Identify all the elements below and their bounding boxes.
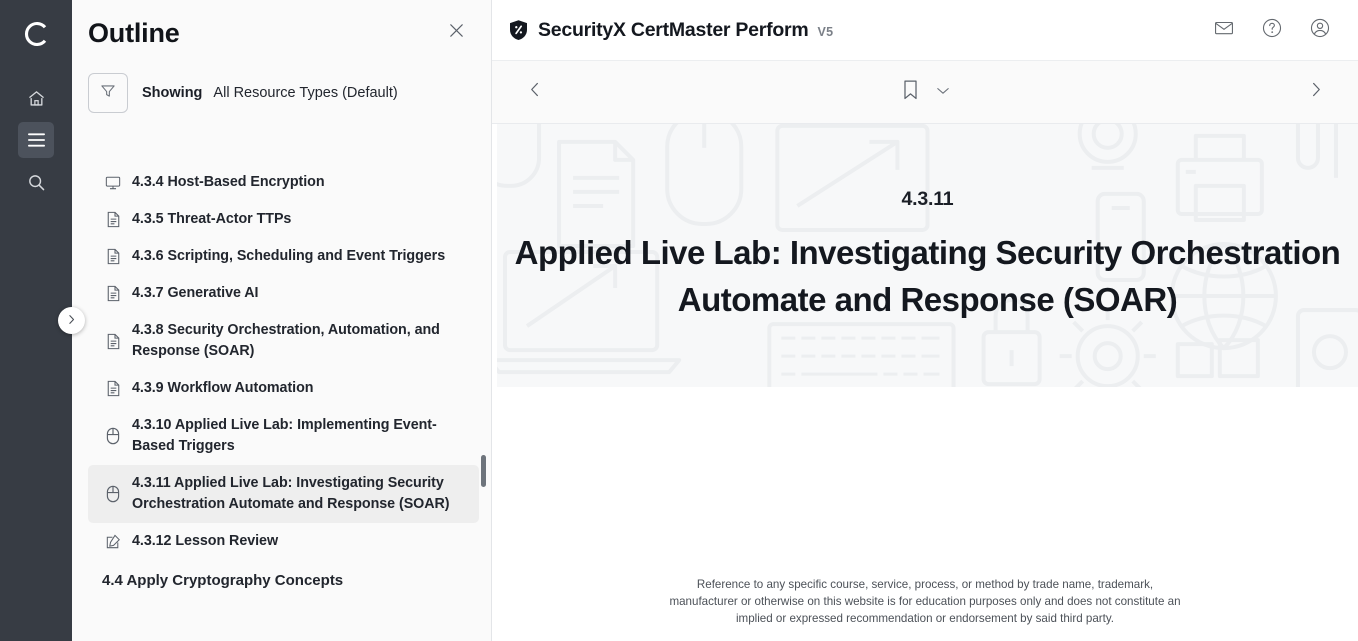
outline-item[interactable]: 4.3.10 Applied Live Lab: Implementing Ev… xyxy=(88,407,479,465)
outline-item-label: 4.3.8 Security Orchestration, Automation… xyxy=(132,320,453,362)
document-icon xyxy=(102,380,124,397)
mouse-icon xyxy=(102,427,124,445)
document-icon xyxy=(102,285,124,302)
document-icon xyxy=(102,248,124,265)
close-outline-button[interactable] xyxy=(443,20,469,46)
outline-panel: Outline Showing All Resource Types (Defa… xyxy=(72,0,492,641)
outline-item-label: 4.3.10 Applied Live Lab: Implementing Ev… xyxy=(132,415,453,457)
shield-check-icon xyxy=(508,19,529,41)
outline-item[interactable]: 4.3.12 Lesson Review xyxy=(88,523,479,560)
messages-button[interactable] xyxy=(1212,18,1236,42)
app-header: SecurityX CertMaster Perform V5 xyxy=(492,0,1358,60)
account-button[interactable] xyxy=(1308,18,1332,42)
next-page-button[interactable] xyxy=(1300,77,1330,107)
chevron-right-icon xyxy=(66,312,77,330)
home-icon xyxy=(27,89,46,108)
monitor-icon xyxy=(102,175,124,191)
outline-item[interactable]: 4.3.5 Threat-Actor TTPs xyxy=(88,201,479,238)
outline-item[interactable]: 4.3.6 Scripting, Scheduling and Event Tr… xyxy=(88,238,479,275)
brand: SecurityX CertMaster Perform V5 xyxy=(508,19,833,42)
mail-icon xyxy=(1213,17,1235,44)
bookmark-button[interactable] xyxy=(901,79,920,106)
chevron-down-icon xyxy=(936,83,950,101)
outline-item-label: 4.3.11 Applied Live Lab: Investigating S… xyxy=(132,473,453,515)
mouse-icon xyxy=(102,485,124,503)
outline-item-label: 4.3.6 Scripting, Scheduling and Event Tr… xyxy=(132,246,445,267)
account-circle-icon xyxy=(1309,17,1331,44)
help-circle-icon xyxy=(1261,17,1283,44)
sidebar-item-outline[interactable] xyxy=(18,122,54,158)
outline-item-label: 4.3.12 Lesson Review xyxy=(132,531,278,552)
help-button[interactable] xyxy=(1260,18,1284,42)
chevron-right-icon xyxy=(1307,81,1324,103)
filter-showing-label: Showing xyxy=(142,85,202,101)
bookmark-dropdown-button[interactable] xyxy=(936,83,950,101)
outline-item-label: 4.3.9 Workflow Automation xyxy=(132,378,313,399)
filter-funnel-icon xyxy=(99,82,117,105)
outline-group-header[interactable]: 4.4 Apply Cryptography Concepts xyxy=(72,560,491,597)
app-title: SecurityX CertMaster Perform xyxy=(538,19,808,42)
outline-item-label: 4.3.5 Threat-Actor TTPs xyxy=(132,209,291,230)
sidebar-item-home[interactable] xyxy=(18,80,54,116)
lesson-number: 4.3.11 xyxy=(902,188,954,211)
outline-item[interactable]: 4.3.4 Host-Based Encryption xyxy=(88,164,479,201)
lesson-content xyxy=(492,387,1358,576)
page-title: Outline xyxy=(88,18,180,49)
outline-scrollbar-thumb[interactable] xyxy=(481,455,486,487)
search-icon xyxy=(27,173,46,192)
main-area: SecurityX CertMaster Perform V5 xyxy=(492,0,1358,641)
document-icon xyxy=(102,333,124,350)
app-root: Outline Showing All Resource Types (Defa… xyxy=(0,0,1358,641)
lesson-hero-banner: 4.3.11 Applied Live Lab: Investigating S… xyxy=(497,124,1358,387)
disclaimer-text: Reference to any specific course, servic… xyxy=(492,576,1358,641)
outline-scrollbar[interactable] xyxy=(481,0,486,641)
chevron-left-icon xyxy=(527,81,544,103)
header-actions xyxy=(1212,18,1332,42)
pencil-square-icon xyxy=(102,534,124,550)
outline-item[interactable]: 4.3.8 Security Orchestration, Automation… xyxy=(88,312,479,370)
filter-row: Showing All Resource Types (Default) xyxy=(72,67,491,127)
previous-page-button[interactable] xyxy=(520,77,550,107)
close-icon xyxy=(447,21,466,45)
document-icon xyxy=(102,211,124,228)
lesson-title-line1: Applied Live Lab: Investigating Security… xyxy=(515,234,1341,271)
comptia-c-logo-icon[interactable] xyxy=(16,14,56,54)
filter-button[interactable] xyxy=(88,73,128,113)
filter-value[interactable]: All Resource Types (Default) xyxy=(213,85,397,101)
outline-list: 4.3.4 Host-Based Encryption4.3.5 Threat-… xyxy=(72,164,491,641)
lesson-title: Applied Live Lab: Investigating Security… xyxy=(515,229,1341,323)
outline-item[interactable]: 4.3.9 Workflow Automation xyxy=(88,370,479,407)
app-version: V5 xyxy=(817,25,833,39)
bookmark-icon xyxy=(901,79,920,106)
sidebar-item-search[interactable] xyxy=(18,164,54,200)
outline-item[interactable]: 4.3.11 Applied Live Lab: Investigating S… xyxy=(88,465,479,523)
expand-panel-button[interactable] xyxy=(58,307,85,334)
outline-item-label: 4.3.4 Host-Based Encryption xyxy=(132,172,325,193)
outline-item[interactable]: 4.3.7 Generative AI xyxy=(88,275,479,312)
bookmark-group xyxy=(492,79,1358,106)
outline-item-label: 4.3.7 Generative AI xyxy=(132,283,258,304)
outline-header: Outline xyxy=(72,0,491,67)
lesson-title-line2: Automate and Response (SOAR) xyxy=(515,276,1341,323)
outline-menu-icon xyxy=(27,132,46,148)
content-navbar xyxy=(492,60,1358,124)
